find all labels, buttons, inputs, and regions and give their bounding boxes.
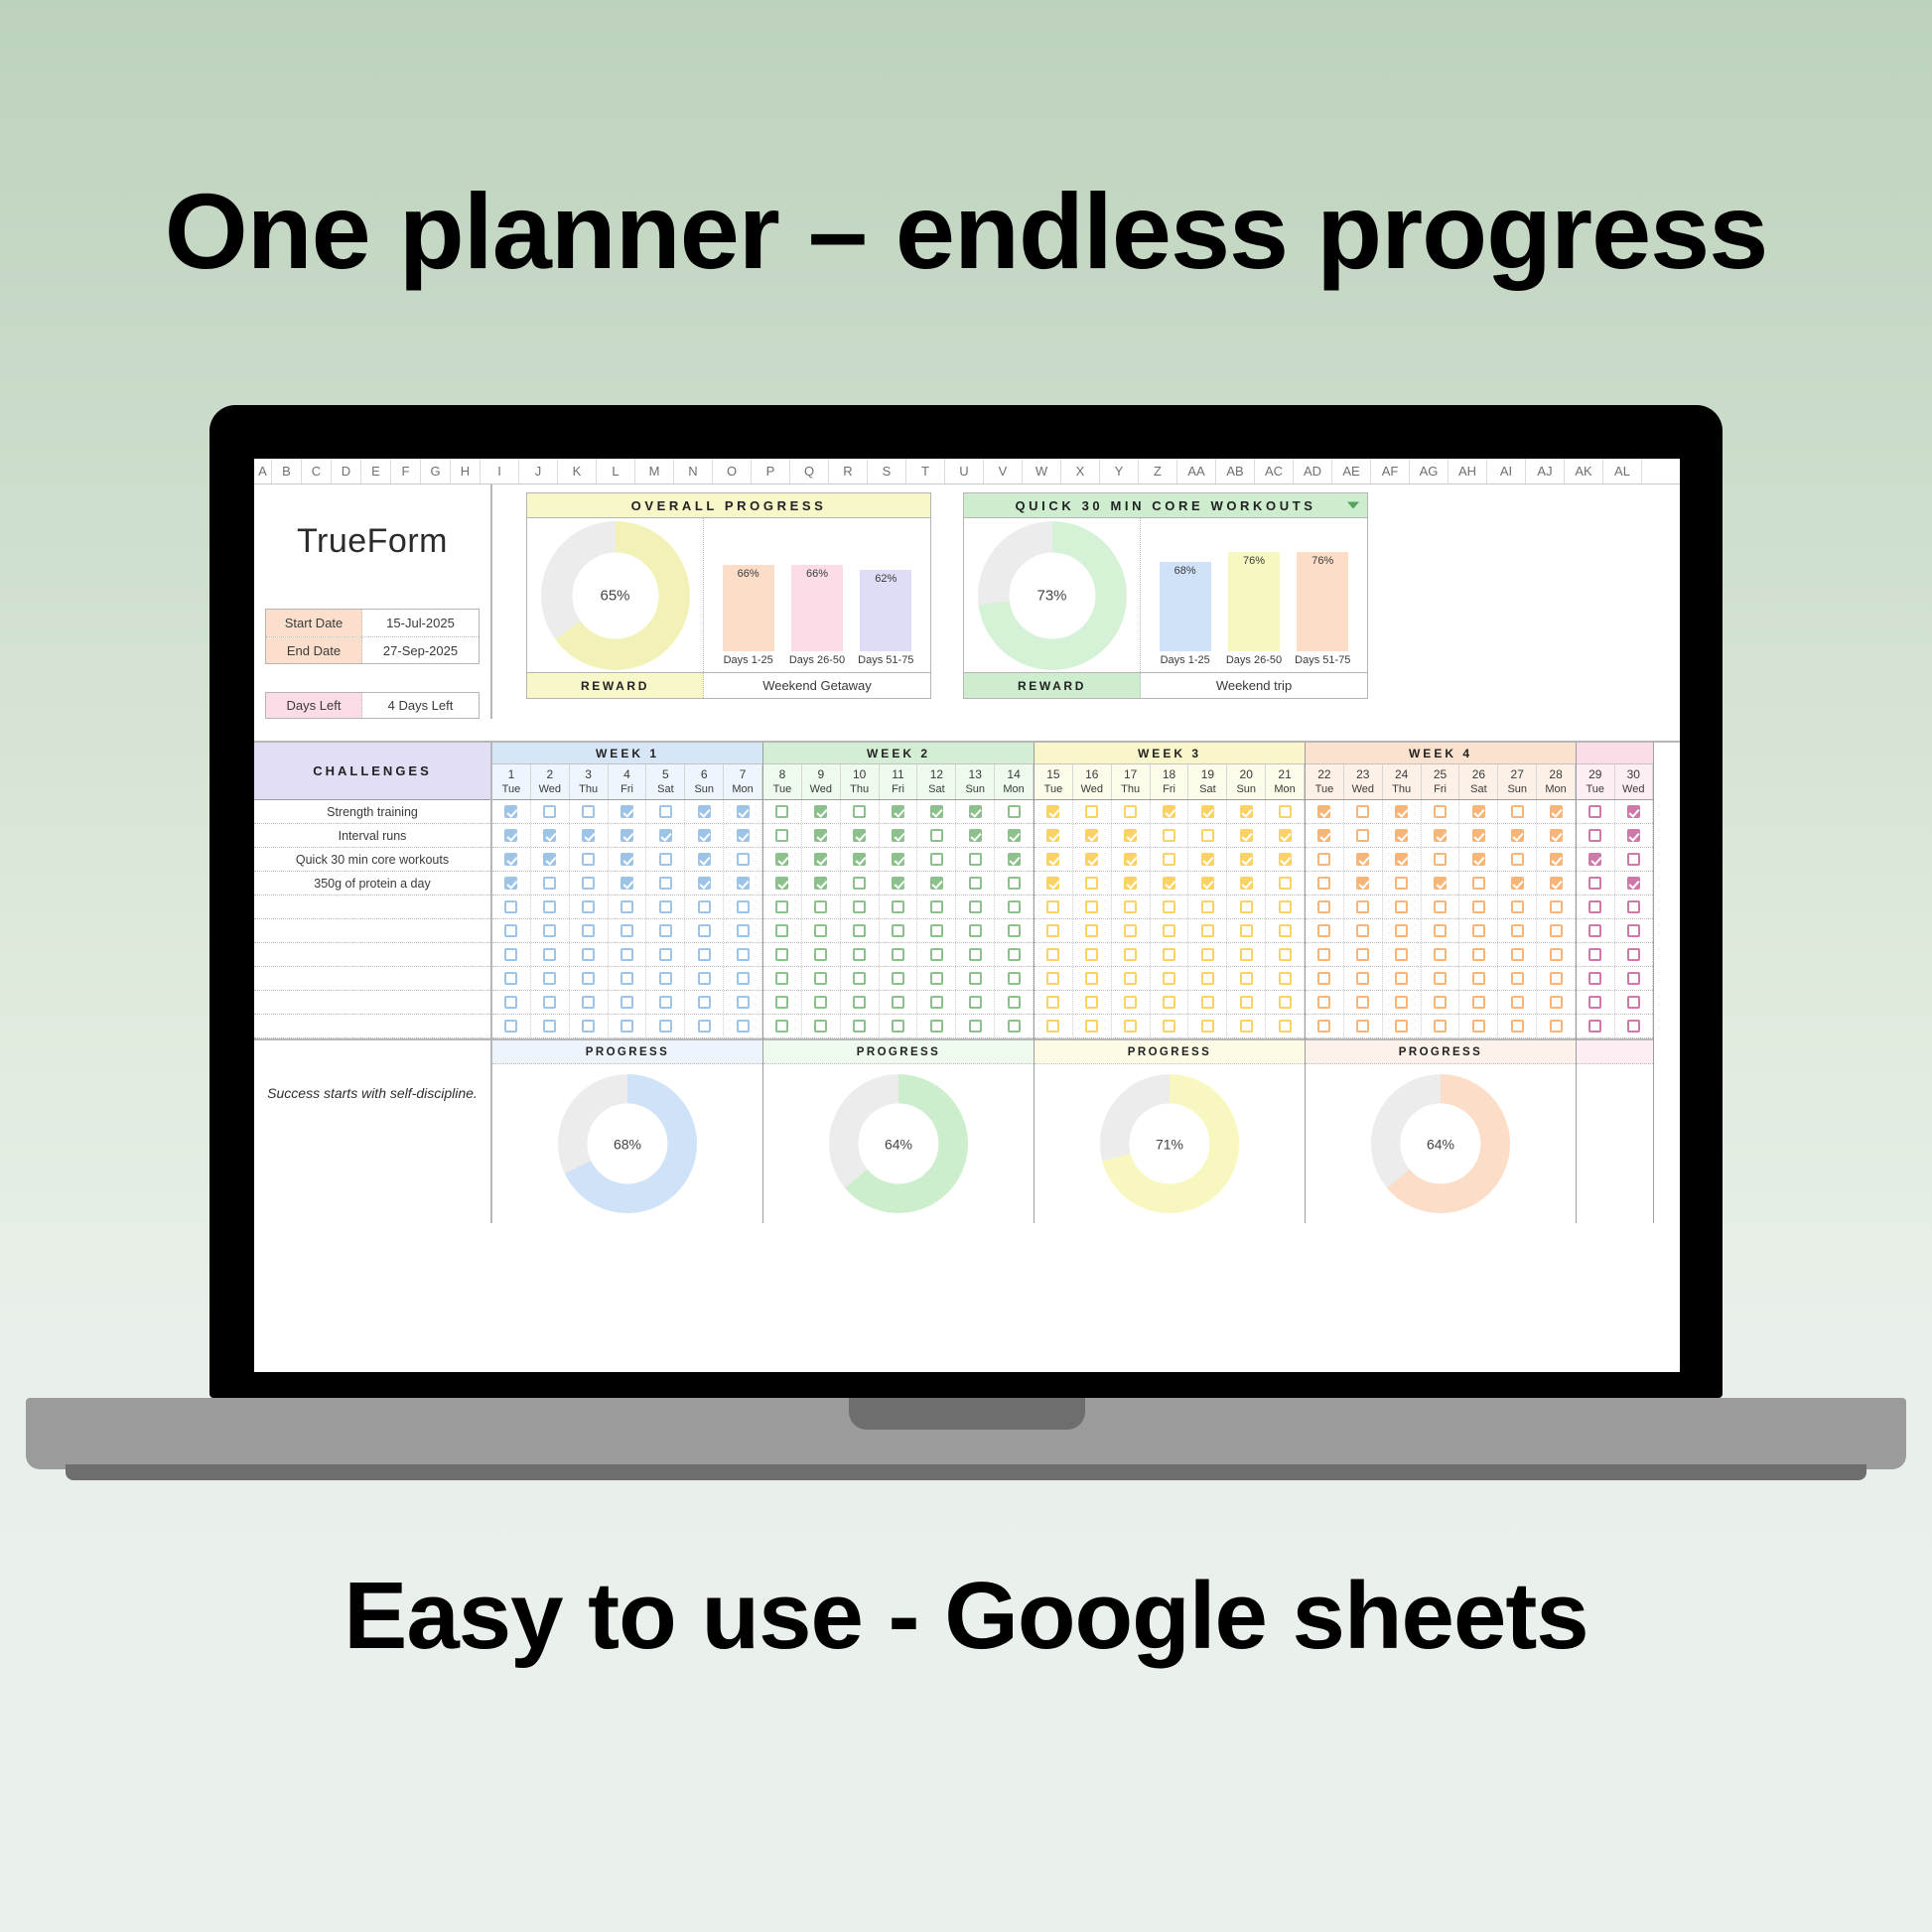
checkbox-unchecked-icon[interactable] (737, 1020, 750, 1033)
checkbox-cell[interactable] (1073, 991, 1112, 1014)
checkbox-unchecked-icon[interactable] (659, 853, 672, 866)
checkbox-cell[interactable] (1035, 872, 1073, 895)
checkbox-unchecked-icon[interactable] (1124, 1020, 1137, 1033)
checkbox-checked-icon[interactable] (1356, 853, 1369, 866)
checkbox-checked-icon[interactable] (1201, 853, 1214, 866)
checkbox-unchecked-icon[interactable] (504, 996, 517, 1009)
checkbox-unchecked-icon[interactable] (1511, 805, 1524, 818)
checkbox-cell[interactable] (880, 991, 918, 1014)
checkbox-cell[interactable] (609, 824, 647, 847)
checkbox-checked-icon[interactable] (1434, 877, 1447, 890)
checkbox-unchecked-icon[interactable] (1588, 900, 1601, 913)
checkbox-unchecked-icon[interactable] (621, 1020, 633, 1033)
checkbox-cell[interactable] (1577, 824, 1615, 847)
checkbox-cell[interactable] (956, 991, 995, 1014)
checkbox-unchecked-icon[interactable] (1317, 924, 1330, 937)
checkbox-cell[interactable] (646, 943, 685, 966)
checkbox-cell[interactable] (724, 943, 762, 966)
checkbox-unchecked-icon[interactable] (543, 972, 556, 985)
checkbox-cell[interactable] (1306, 991, 1344, 1014)
checkbox-cell[interactable] (1537, 919, 1576, 942)
checkbox-cell[interactable] (1383, 800, 1422, 823)
checkbox-cell[interactable] (609, 800, 647, 823)
checkbox-unchecked-icon[interactable] (1395, 900, 1408, 913)
checkbox-cell[interactable] (570, 1015, 609, 1037)
checkbox-cell[interactable] (1537, 967, 1576, 990)
checkbox-unchecked-icon[interactable] (814, 948, 827, 961)
checkbox-unchecked-icon[interactable] (659, 900, 672, 913)
checkbox-cell[interactable] (1306, 896, 1344, 918)
checkbox-cell[interactable] (1035, 943, 1073, 966)
checkbox-cell[interactable] (995, 896, 1034, 918)
checkbox-checked-icon[interactable] (621, 829, 633, 842)
checkbox-checked-icon[interactable] (1472, 829, 1485, 842)
checkbox-unchecked-icon[interactable] (1550, 972, 1563, 985)
checkbox-cell[interactable] (1073, 872, 1112, 895)
checkbox-cell[interactable] (1306, 872, 1344, 895)
column-header-AC[interactable]: AC (1255, 459, 1294, 483)
checkbox-checked-icon[interactable] (1472, 853, 1485, 866)
checkbox-cell[interactable] (531, 896, 570, 918)
checkbox-cell[interactable] (1306, 1015, 1344, 1037)
checkbox-cell[interactable] (685, 872, 724, 895)
checkbox-checked-icon[interactable] (1550, 877, 1563, 890)
checkbox-cell[interactable] (1537, 1015, 1576, 1037)
checkbox-cell[interactable] (1112, 872, 1151, 895)
checkbox-cell[interactable] (570, 848, 609, 871)
checkbox-checked-icon[interactable] (1124, 829, 1137, 842)
checkbox-cell[interactable] (763, 919, 802, 942)
checkbox-unchecked-icon[interactable] (1163, 972, 1175, 985)
checkbox-cell[interactable] (646, 800, 685, 823)
checkbox-unchecked-icon[interactable] (659, 996, 672, 1009)
checkbox-cell[interactable] (956, 848, 995, 871)
checkbox-cell[interactable] (1266, 967, 1305, 990)
column-header-R[interactable]: R (829, 459, 868, 483)
checkbox-checked-icon[interactable] (1008, 853, 1021, 866)
checkbox-cell[interactable] (1266, 800, 1305, 823)
column-header-N[interactable]: N (674, 459, 713, 483)
checkbox-cell[interactable] (763, 800, 802, 823)
checkbox-unchecked-icon[interactable] (1317, 972, 1330, 985)
checkbox-unchecked-icon[interactable] (582, 853, 595, 866)
checkbox-unchecked-icon[interactable] (1588, 877, 1601, 890)
checkbox-cell[interactable] (880, 919, 918, 942)
checkbox-unchecked-icon[interactable] (1356, 1020, 1369, 1033)
checkbox-cell[interactable] (917, 800, 956, 823)
checkbox-cell[interactable] (995, 967, 1034, 990)
checkbox-unchecked-icon[interactable] (1588, 924, 1601, 937)
checkbox-cell[interactable] (724, 872, 762, 895)
checkbox-checked-icon[interactable] (1434, 829, 1447, 842)
checkbox-unchecked-icon[interactable] (582, 924, 595, 937)
checkbox-unchecked-icon[interactable] (1395, 924, 1408, 937)
checkbox-cell[interactable] (685, 848, 724, 871)
checkbox-cell[interactable] (1537, 872, 1576, 895)
checkbox-cell[interactable] (1577, 967, 1615, 990)
checkbox-unchecked-icon[interactable] (1085, 972, 1098, 985)
checkbox-cell[interactable] (1615, 919, 1654, 942)
checkbox-unchecked-icon[interactable] (814, 924, 827, 937)
column-header-AH[interactable]: AH (1449, 459, 1487, 483)
checkbox-cell[interactable] (1151, 967, 1189, 990)
checkbox-cell[interactable] (1344, 824, 1383, 847)
checkbox-unchecked-icon[interactable] (1395, 972, 1408, 985)
checkbox-cell[interactable] (1227, 991, 1266, 1014)
checkbox-cell[interactable] (995, 919, 1034, 942)
checkbox-cell[interactable] (1344, 967, 1383, 990)
checkbox-cell[interactable] (1112, 800, 1151, 823)
checkbox-unchecked-icon[interactable] (659, 1020, 672, 1033)
checkbox-cell[interactable] (492, 919, 531, 942)
column-header-Q[interactable]: Q (790, 459, 829, 483)
checkbox-checked-icon[interactable] (698, 877, 711, 890)
checkbox-cell[interactable] (685, 824, 724, 847)
checkbox-cell[interactable] (1459, 800, 1498, 823)
checkbox-cell[interactable] (1035, 800, 1073, 823)
checkbox-unchecked-icon[interactable] (930, 829, 943, 842)
checkbox-cell[interactable] (570, 824, 609, 847)
checkbox-unchecked-icon[interactable] (1434, 1020, 1447, 1033)
checkbox-cell[interactable] (492, 848, 531, 871)
checkbox-cell[interactable] (1422, 800, 1460, 823)
checkbox-cell[interactable] (531, 967, 570, 990)
checkbox-cell[interactable] (1112, 991, 1151, 1014)
column-header-E[interactable]: E (361, 459, 391, 483)
checkbox-unchecked-icon[interactable] (892, 924, 904, 937)
checkbox-unchecked-icon[interactable] (1511, 972, 1524, 985)
checkbox-cell[interactable] (841, 872, 880, 895)
checkbox-checked-icon[interactable] (1279, 853, 1292, 866)
checkbox-cell[interactable] (995, 872, 1034, 895)
checkbox-unchecked-icon[interactable] (582, 805, 595, 818)
checkbox-cell[interactable] (763, 872, 802, 895)
checkbox-checked-icon[interactable] (1085, 853, 1098, 866)
checkbox-unchecked-icon[interactable] (969, 948, 982, 961)
checkbox-unchecked-icon[interactable] (1317, 1020, 1330, 1033)
checkbox-unchecked-icon[interactable] (775, 996, 788, 1009)
checkbox-unchecked-icon[interactable] (1588, 996, 1601, 1009)
checkbox-cell[interactable] (1459, 919, 1498, 942)
checkbox-cell[interactable] (917, 943, 956, 966)
checkbox-cell[interactable] (1151, 872, 1189, 895)
checkbox-cell[interactable] (1537, 824, 1576, 847)
checkbox-unchecked-icon[interactable] (621, 900, 633, 913)
checkbox-cell[interactable] (1188, 943, 1227, 966)
checkbox-cell[interactable] (956, 1015, 995, 1037)
checkbox-cell[interactable] (1035, 896, 1073, 918)
checkbox-cell[interactable] (1344, 800, 1383, 823)
checkbox-checked-icon[interactable] (698, 853, 711, 866)
checkbox-checked-icon[interactable] (543, 829, 556, 842)
checkbox-cell[interactable] (1306, 824, 1344, 847)
checkbox-unchecked-icon[interactable] (543, 1020, 556, 1033)
checkbox-unchecked-icon[interactable] (737, 972, 750, 985)
checkbox-cell[interactable] (956, 919, 995, 942)
challenge-row[interactable] (254, 896, 490, 919)
checkbox-cell[interactable] (1112, 967, 1151, 990)
checkbox-cell[interactable] (1073, 824, 1112, 847)
checkbox-cell[interactable] (1073, 943, 1112, 966)
checkbox-cell[interactable] (1151, 896, 1189, 918)
checkbox-cell[interactable] (609, 848, 647, 871)
checkbox-cell[interactable] (609, 1015, 647, 1037)
checkbox-cell[interactable] (531, 1015, 570, 1037)
checkbox-unchecked-icon[interactable] (1124, 924, 1137, 937)
checkbox-checked-icon[interactable] (1472, 805, 1485, 818)
checkbox-cell[interactable] (802, 991, 841, 1014)
checkbox-cell[interactable] (1498, 967, 1537, 990)
checkbox-cell[interactable] (1073, 919, 1112, 942)
checkbox-cell[interactable] (1498, 896, 1537, 918)
checkbox-unchecked-icon[interactable] (775, 805, 788, 818)
checkbox-cell[interactable] (841, 967, 880, 990)
checkbox-checked-icon[interactable] (930, 805, 943, 818)
checkbox-checked-icon[interactable] (1046, 877, 1059, 890)
checkbox-checked-icon[interactable] (504, 853, 517, 866)
column-header-F[interactable]: F (391, 459, 421, 483)
checkbox-unchecked-icon[interactable] (1085, 948, 1098, 961)
checkbox-unchecked-icon[interactable] (1240, 948, 1253, 961)
checkbox-checked-icon[interactable] (1550, 853, 1563, 866)
checkbox-checked-icon[interactable] (1163, 805, 1175, 818)
checkbox-cell[interactable] (724, 967, 762, 990)
checkbox-checked-icon[interactable] (1627, 829, 1640, 842)
checkbox-unchecked-icon[interactable] (853, 1020, 866, 1033)
checkbox-cell[interactable] (1537, 943, 1576, 966)
checkbox-unchecked-icon[interactable] (698, 900, 711, 913)
checkbox-cell[interactable] (1035, 1015, 1073, 1037)
checkbox-checked-icon[interactable] (814, 829, 827, 842)
checkbox-cell[interactable] (763, 943, 802, 966)
checkbox-unchecked-icon[interactable] (1124, 996, 1137, 1009)
checkbox-unchecked-icon[interactable] (1279, 996, 1292, 1009)
checkbox-unchecked-icon[interactable] (1588, 1020, 1601, 1033)
checkbox-unchecked-icon[interactable] (1085, 924, 1098, 937)
checkbox-cell[interactable] (685, 919, 724, 942)
checkbox-cell[interactable] (1035, 991, 1073, 1014)
checkbox-cell[interactable] (1073, 800, 1112, 823)
checkbox-cell[interactable] (1498, 800, 1537, 823)
checkbox-unchecked-icon[interactable] (1472, 948, 1485, 961)
checkbox-cell[interactable] (1537, 896, 1576, 918)
checkbox-checked-icon[interactable] (737, 805, 750, 818)
checkbox-cell[interactable] (1306, 943, 1344, 966)
column-header-A[interactable]: A (254, 459, 272, 483)
checkbox-unchecked-icon[interactable] (737, 853, 750, 866)
checkbox-cell[interactable] (956, 896, 995, 918)
checkbox-checked-icon[interactable] (814, 805, 827, 818)
checkbox-cell[interactable] (763, 896, 802, 918)
checkbox-unchecked-icon[interactable] (1201, 1020, 1214, 1033)
column-header-K[interactable]: K (558, 459, 597, 483)
checkbox-cell[interactable] (1537, 991, 1576, 1014)
checkbox-cell[interactable] (492, 824, 531, 847)
checkbox-cell[interactable] (1188, 896, 1227, 918)
checkbox-unchecked-icon[interactable] (892, 972, 904, 985)
checkbox-checked-icon[interactable] (1588, 853, 1601, 866)
checkbox-cell[interactable] (570, 896, 609, 918)
checkbox-unchecked-icon[interactable] (1085, 996, 1098, 1009)
checkbox-unchecked-icon[interactable] (1008, 1020, 1021, 1033)
checkbox-checked-icon[interactable] (1395, 805, 1408, 818)
checkbox-cell[interactable] (995, 991, 1034, 1014)
checkbox-unchecked-icon[interactable] (892, 1020, 904, 1033)
column-header-AB[interactable]: AB (1216, 459, 1255, 483)
checkbox-cell[interactable] (1577, 991, 1615, 1014)
checkbox-unchecked-icon[interactable] (543, 924, 556, 937)
checkbox-cell[interactable] (1383, 824, 1422, 847)
challenge-row[interactable] (254, 967, 490, 991)
checkbox-unchecked-icon[interactable] (1434, 972, 1447, 985)
checkbox-unchecked-icon[interactable] (504, 972, 517, 985)
checkbox-unchecked-icon[interactable] (1627, 948, 1640, 961)
checkbox-unchecked-icon[interactable] (1356, 924, 1369, 937)
challenge-row[interactable]: Quick 30 min core workouts (254, 848, 490, 872)
checkbox-unchecked-icon[interactable] (1588, 972, 1601, 985)
checkbox-unchecked-icon[interactable] (1240, 996, 1253, 1009)
checkbox-checked-icon[interactable] (698, 805, 711, 818)
checkbox-unchecked-icon[interactable] (969, 877, 982, 890)
checkbox-cell[interactable] (1383, 1015, 1422, 1037)
checkbox-cell[interactable] (1266, 919, 1305, 942)
checkbox-cell[interactable] (1422, 967, 1460, 990)
checkbox-unchecked-icon[interactable] (1588, 805, 1601, 818)
checkbox-cell[interactable] (1615, 848, 1654, 871)
checkbox-cell[interactable] (1422, 991, 1460, 1014)
checkbox-checked-icon[interactable] (1240, 877, 1253, 890)
checkbox-unchecked-icon[interactable] (543, 996, 556, 1009)
checkbox-unchecked-icon[interactable] (775, 900, 788, 913)
checkbox-cell[interactable] (1422, 1015, 1460, 1037)
checkbox-cell[interactable] (880, 824, 918, 847)
checkbox-unchecked-icon[interactable] (1588, 948, 1601, 961)
checkbox-cell[interactable] (1151, 991, 1189, 1014)
checkbox-unchecked-icon[interactable] (582, 996, 595, 1009)
checkbox-unchecked-icon[interactable] (698, 1020, 711, 1033)
column-header-AE[interactable]: AE (1332, 459, 1371, 483)
checkbox-cell[interactable] (724, 1015, 762, 1037)
checkbox-cell[interactable] (646, 919, 685, 942)
reward-value[interactable]: Weekend Getaway (704, 673, 930, 698)
checkbox-cell[interactable] (1537, 848, 1576, 871)
checkbox-unchecked-icon[interactable] (1046, 900, 1059, 913)
checkbox-cell[interactable] (880, 967, 918, 990)
checkbox-checked-icon[interactable] (1395, 829, 1408, 842)
checkbox-cell[interactable] (1306, 967, 1344, 990)
checkbox-cell[interactable] (1577, 848, 1615, 871)
checkbox-cell[interactable] (841, 800, 880, 823)
checkbox-unchecked-icon[interactable] (1395, 948, 1408, 961)
checkbox-cell[interactable] (1615, 896, 1654, 918)
checkbox-unchecked-icon[interactable] (1163, 996, 1175, 1009)
checkbox-unchecked-icon[interactable] (737, 900, 750, 913)
checkbox-cell[interactable] (646, 991, 685, 1014)
checkbox-cell[interactable] (724, 896, 762, 918)
column-header-H[interactable]: H (451, 459, 481, 483)
checkbox-unchecked-icon[interactable] (853, 972, 866, 985)
checkbox-unchecked-icon[interactable] (969, 853, 982, 866)
checkbox-checked-icon[interactable] (1550, 805, 1563, 818)
checkbox-unchecked-icon[interactable] (930, 853, 943, 866)
checkbox-cell[interactable] (1615, 967, 1654, 990)
column-header-P[interactable]: P (752, 459, 790, 483)
checkbox-unchecked-icon[interactable] (853, 877, 866, 890)
checkbox-cell[interactable] (1577, 919, 1615, 942)
checkbox-unchecked-icon[interactable] (543, 805, 556, 818)
checkbox-cell[interactable] (880, 872, 918, 895)
column-header-AL[interactable]: AL (1603, 459, 1642, 483)
checkbox-cell[interactable] (1615, 991, 1654, 1014)
checkbox-cell[interactable] (1306, 848, 1344, 871)
checkbox-cell[interactable] (1383, 848, 1422, 871)
checkbox-unchecked-icon[interactable] (543, 877, 556, 890)
column-header-D[interactable]: D (332, 459, 361, 483)
checkbox-cell[interactable] (1188, 1015, 1227, 1037)
checkbox-checked-icon[interactable] (1201, 805, 1214, 818)
checkbox-cell[interactable] (1383, 943, 1422, 966)
checkbox-unchecked-icon[interactable] (1395, 1020, 1408, 1033)
checkbox-cell[interactable] (1577, 800, 1615, 823)
checkbox-cell[interactable] (531, 848, 570, 871)
checkbox-unchecked-icon[interactable] (1163, 948, 1175, 961)
checkbox-checked-icon[interactable] (1240, 829, 1253, 842)
checkbox-cell[interactable] (570, 967, 609, 990)
checkbox-cell[interactable] (880, 848, 918, 871)
checkbox-cell[interactable] (1615, 1015, 1654, 1037)
checkbox-cell[interactable] (956, 872, 995, 895)
checkbox-unchecked-icon[interactable] (1124, 972, 1137, 985)
checkbox-cell[interactable] (685, 943, 724, 966)
checkbox-cell[interactable] (492, 872, 531, 895)
checkbox-cell[interactable] (917, 872, 956, 895)
checkbox-checked-icon[interactable] (1008, 829, 1021, 842)
checkbox-cell[interactable] (1151, 824, 1189, 847)
checkbox-cell[interactable] (1344, 872, 1383, 895)
checkbox-cell[interactable] (802, 1015, 841, 1037)
checkbox-cell[interactable] (492, 991, 531, 1014)
checkbox-cell[interactable] (802, 943, 841, 966)
checkbox-cell[interactable] (1615, 943, 1654, 966)
reward-value[interactable]: Weekend trip (1141, 673, 1367, 698)
column-header-T[interactable]: T (906, 459, 945, 483)
checkbox-unchecked-icon[interactable] (1201, 972, 1214, 985)
checkbox-checked-icon[interactable] (969, 805, 982, 818)
checkbox-cell[interactable] (841, 896, 880, 918)
checkbox-cell[interactable] (1422, 848, 1460, 871)
checkbox-cell[interactable] (531, 824, 570, 847)
checkbox-checked-icon[interactable] (1317, 805, 1330, 818)
checkbox-unchecked-icon[interactable] (969, 996, 982, 1009)
checkbox-cell[interactable] (1188, 991, 1227, 1014)
column-header-M[interactable]: M (635, 459, 674, 483)
checkbox-unchecked-icon[interactable] (698, 948, 711, 961)
checkbox-unchecked-icon[interactable] (853, 924, 866, 937)
checkbox-checked-icon[interactable] (1124, 877, 1137, 890)
checkbox-cell[interactable] (1459, 848, 1498, 871)
checkbox-cell[interactable] (609, 872, 647, 895)
checkbox-cell[interactable] (917, 824, 956, 847)
checkbox-cell[interactable] (1306, 800, 1344, 823)
checkbox-checked-icon[interactable] (775, 877, 788, 890)
checkbox-cell[interactable] (880, 800, 918, 823)
checkbox-cell[interactable] (724, 991, 762, 1014)
checkbox-unchecked-icon[interactable] (930, 900, 943, 913)
checkbox-cell[interactable] (1266, 991, 1305, 1014)
checkbox-cell[interactable] (1112, 943, 1151, 966)
challenge-row[interactable]: 350g of protein a day (254, 872, 490, 896)
checkbox-unchecked-icon[interactable] (814, 1020, 827, 1033)
